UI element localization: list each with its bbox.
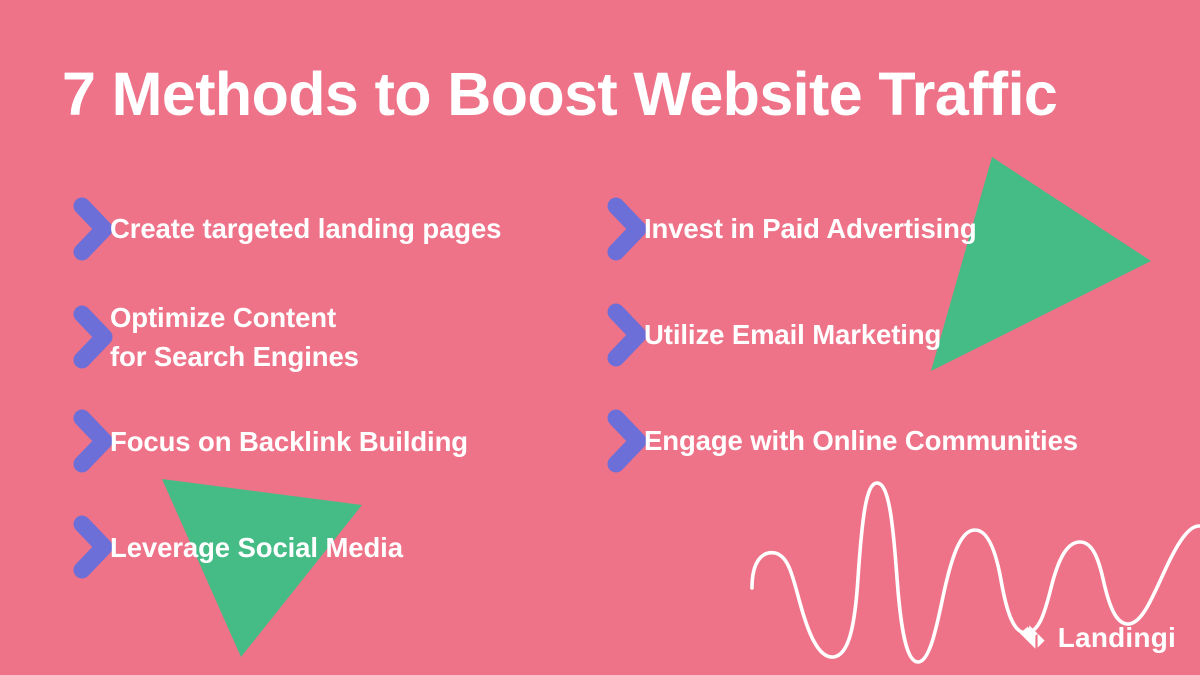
list-item-label: Utilize Email Marketing bbox=[644, 315, 941, 354]
list-item[interactable]: Optimize Content for Search Engines bbox=[72, 298, 592, 376]
landingi-wordmark: Landingi bbox=[1058, 624, 1176, 652]
methods-column-right: Invest in Paid Advertising Utilize Email… bbox=[606, 192, 1166, 478]
list-item-label: Engage with Online Communities bbox=[644, 421, 1078, 460]
list-item-label: Optimize Content for Search Engines bbox=[110, 298, 359, 376]
page-title: 7 Methods to Boost Website Traffic bbox=[62, 62, 1057, 126]
landingi-logo[interactable]: Landingi bbox=[1018, 623, 1176, 653]
list-item[interactable]: Focus on Backlink Building bbox=[72, 404, 592, 478]
list-item-label: Invest in Paid Advertising bbox=[644, 209, 977, 248]
list-item-label: Leverage Social Media bbox=[110, 528, 403, 567]
list-item[interactable]: Engage with Online Communities bbox=[606, 404, 1166, 478]
list-item[interactable]: Create targeted landing pages bbox=[72, 192, 592, 266]
list-item[interactable]: Utilize Email Marketing bbox=[606, 298, 1166, 372]
list-item-label: Create targeted landing pages bbox=[110, 209, 501, 248]
list-item[interactable]: Leverage Social Media bbox=[72, 510, 592, 584]
slide-canvas: 7 Methods to Boost Website Traffic Creat… bbox=[0, 0, 1200, 675]
methods-column-left: Create targeted landing pages Optimize C… bbox=[72, 192, 592, 584]
list-item-label: Focus on Backlink Building bbox=[110, 422, 468, 461]
landingi-diamond-icon bbox=[1018, 623, 1048, 653]
list-item[interactable]: Invest in Paid Advertising bbox=[606, 192, 1166, 266]
